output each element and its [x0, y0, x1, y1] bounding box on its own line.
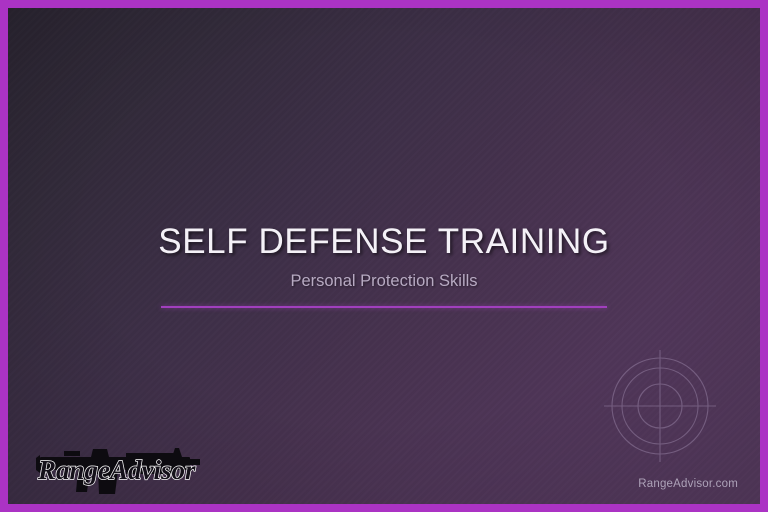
page-title: SELF DEFENSE TRAINING: [8, 222, 760, 262]
brand-logo-wordmark: RangeAdvisor: [37, 455, 196, 485]
slide-canvas: SELF DEFENSE TRAINING Personal Protectio…: [0, 0, 768, 512]
footer-website-url: RangeAdvisor.com: [638, 478, 738, 490]
page-subtitle: Personal Protection Skills: [8, 262, 760, 292]
title-block: SELF DEFENSE TRAINING Personal Protectio…: [8, 222, 760, 308]
title-divider: [161, 306, 607, 308]
brand-logo: RangeAdvisor: [34, 432, 206, 504]
